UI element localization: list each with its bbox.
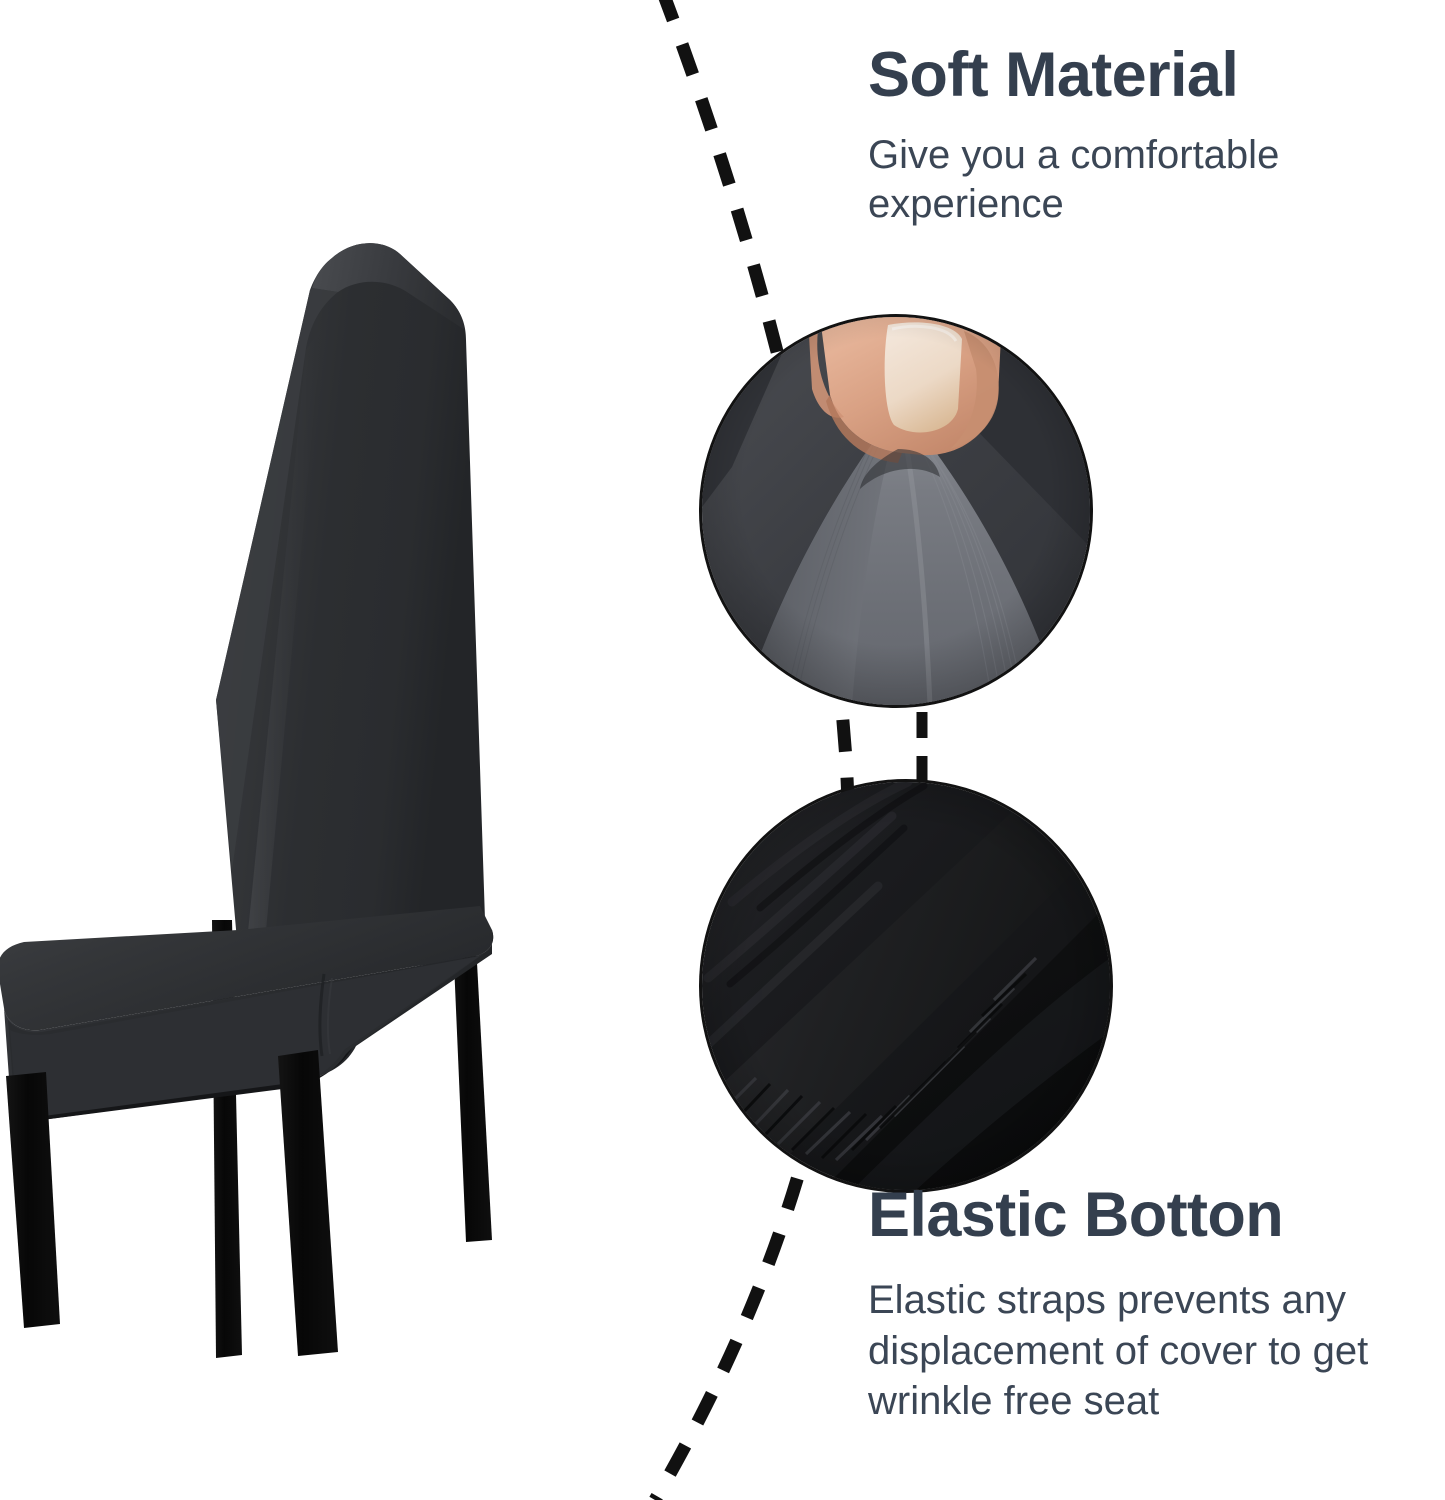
feature-title-soft-material: Soft Material xyxy=(868,42,1428,109)
feature-description-elastic-bottom: Elastic straps prevents any displacement… xyxy=(868,1275,1433,1427)
inset-soft-material xyxy=(702,317,1090,705)
feature-title-elastic-bottom: Elastic Botton xyxy=(868,1182,1433,1249)
elastic-hem-photo xyxy=(702,782,1110,1190)
feature-block-soft-material: Soft Material Give you a comfortable exp… xyxy=(868,42,1428,230)
feature-description-soft-material: Give you a comfortable experience xyxy=(868,131,1428,230)
chair-back xyxy=(216,243,485,982)
product-infographic: Soft Material Give you a comfortable exp… xyxy=(0,0,1445,1500)
fabric-pinch-photo xyxy=(702,317,1090,705)
chair-seat xyxy=(0,906,493,1120)
feature-block-elastic-bottom: Elastic Botton Elastic straps prevents a… xyxy=(868,1182,1433,1427)
chair-photo xyxy=(0,230,670,1360)
inset-elastic-bottom xyxy=(702,782,1110,1190)
